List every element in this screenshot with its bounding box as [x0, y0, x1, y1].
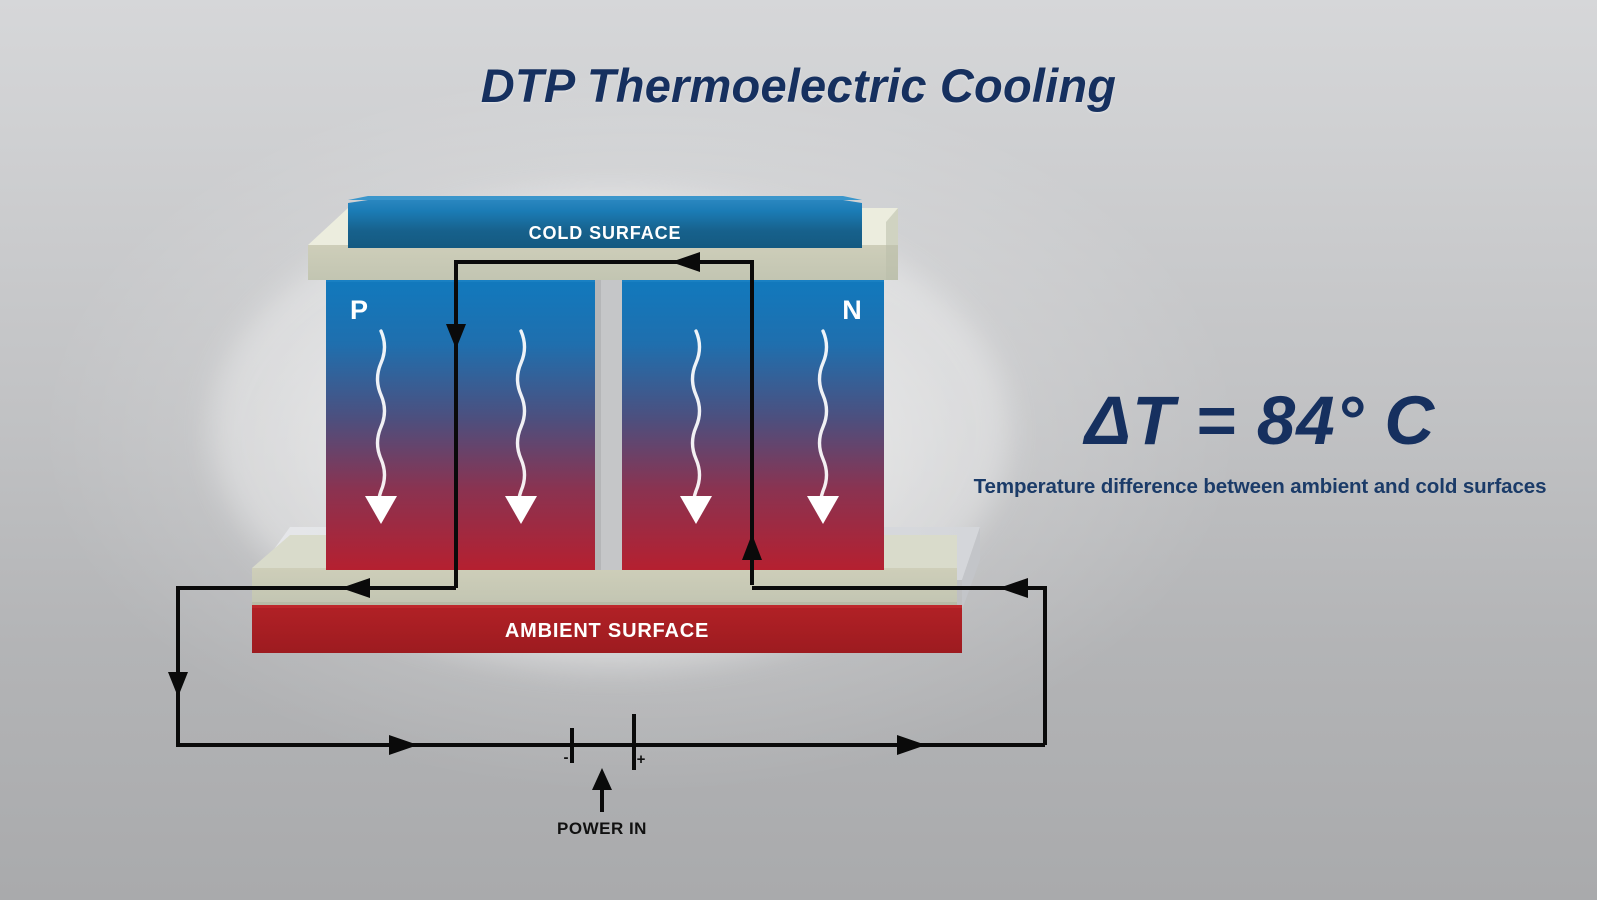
p-type-pellet-label: P: [350, 295, 368, 325]
current-arrow-right-bottom-left: [389, 735, 418, 755]
diagram-canvas: DTP Thermoelectric Cooling: [0, 0, 1597, 900]
power-in-indicator: POWER IN: [557, 768, 647, 838]
power-source-symbol: - +: [564, 714, 646, 770]
power-in-arrow-icon: [592, 768, 612, 790]
current-arrow-left-right-side: [999, 578, 1028, 598]
terminal-positive-label: +: [637, 751, 646, 768]
cold-surface-label: COLD SURFACE: [529, 223, 682, 243]
current-arrow-right-bottom-right: [897, 735, 926, 755]
cold-surface: COLD SURFACE: [348, 196, 862, 248]
ambient-surface-label: AMBIENT SURFACE: [505, 620, 709, 642]
ambient-surface: AMBIENT SURFACE: [252, 605, 962, 653]
terminal-negative-label: -: [564, 749, 569, 766]
n-type-pellet-label: N: [842, 295, 862, 325]
delta-t-value: ΔT = 84° C: [950, 386, 1570, 455]
delta-t-callout: ΔT = 84° C Temperature difference betwee…: [950, 386, 1570, 499]
power-in-label: POWER IN: [557, 819, 647, 838]
current-arrow-down-left: [168, 672, 188, 697]
center-gap-pillar: [595, 280, 622, 570]
p-type-pellet: P: [326, 280, 595, 570]
delta-t-caption: Temperature difference between ambient a…: [950, 475, 1570, 499]
